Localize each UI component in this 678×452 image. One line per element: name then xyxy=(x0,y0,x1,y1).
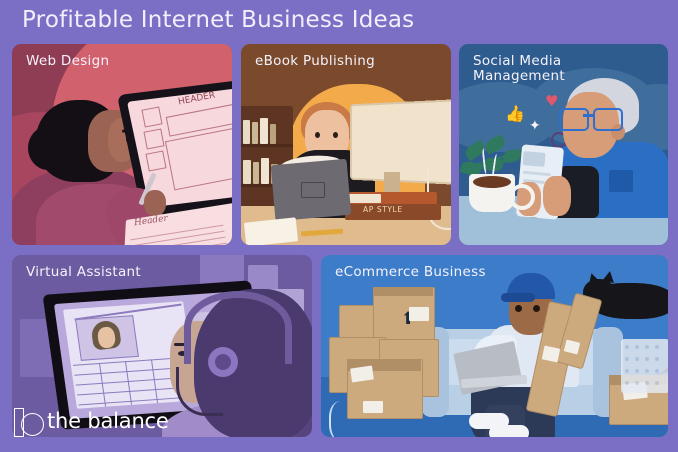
brand-logo[interactable]: the balance xyxy=(14,402,172,440)
infographic-poster: Profitable Internet Business Ideas HEADE… xyxy=(0,0,678,452)
grid-line xyxy=(151,359,158,403)
person-hand-right xyxy=(543,176,571,216)
baseball-cap-brim xyxy=(501,293,535,302)
panel-label-social-media-management: Social Media Management xyxy=(473,54,565,84)
eyeglasses-left-lens xyxy=(559,108,589,131)
wireframe-block-2 xyxy=(143,128,164,149)
shelf-book xyxy=(243,120,250,144)
thumbs-up-icon: 👍 xyxy=(505,104,525,123)
eyeglasses-right-lens xyxy=(593,108,623,131)
panel-ecommerce-business[interactable]: ⬆ xyxy=(321,255,668,437)
spreadsheet-grid xyxy=(73,358,183,409)
wireframe-block-1 xyxy=(141,106,162,127)
logo-circle-shape xyxy=(21,413,44,436)
plant-leaf xyxy=(502,149,521,163)
grid-line xyxy=(99,363,106,407)
person-hair-bun xyxy=(28,126,68,170)
panel-label-ebook-publishing: eBook Publishing xyxy=(255,54,375,69)
person-eye-left xyxy=(315,132,320,138)
panel-social-media-management[interactable]: 👍 ♥ ✦ Social Media M xyxy=(459,44,668,245)
coffee-liquid xyxy=(473,176,511,188)
panel-label-virtual-assistant: Virtual Assistant xyxy=(26,265,141,280)
shipping-label xyxy=(363,401,383,413)
eyeglasses-bridge xyxy=(583,114,595,117)
ebook-publishing-scene: AP STYLE xyxy=(241,44,451,245)
shipping-label xyxy=(409,307,429,321)
book-cover-label xyxy=(301,182,325,198)
notebook xyxy=(244,217,298,245)
grid-line xyxy=(125,361,132,405)
balance-logo-mark xyxy=(14,408,40,435)
book-spine-label: AP STYLE xyxy=(363,205,403,214)
shelf-book xyxy=(243,160,251,184)
headset-band xyxy=(184,291,292,364)
panel-label-ecommerce-business: eCommerce Business xyxy=(335,265,486,280)
panel-label-web-design: Web Design xyxy=(26,54,109,69)
ecommerce-scene: ⬆ xyxy=(321,255,668,437)
brand-name: the balance xyxy=(47,409,169,433)
wireframe-block-3 xyxy=(145,150,166,171)
shirt-pocket xyxy=(609,170,633,192)
shelf-book xyxy=(252,122,258,144)
cat-ear-right xyxy=(602,270,616,283)
shelf-book xyxy=(261,158,269,184)
sparkle-icon: ✦ xyxy=(529,118,541,134)
shelf-book xyxy=(260,118,268,144)
panel-ebook-publishing[interactable]: AP STYLE eBook Publishing xyxy=(241,44,451,245)
shelf-book xyxy=(253,162,259,184)
bubble-wrap xyxy=(621,339,668,393)
shelf-book xyxy=(270,124,276,144)
web-design-scene: HEADER Header xyxy=(12,44,232,245)
person-eye-right xyxy=(533,305,540,312)
panel-web-design[interactable]: HEADER Header Web Design xyxy=(12,44,232,245)
smartphone-image-block xyxy=(522,151,545,167)
heart-icon: ♥ xyxy=(545,92,558,110)
shipping-label xyxy=(542,345,561,362)
packing-string xyxy=(329,401,357,437)
person-hand xyxy=(144,190,166,216)
person-eye-left xyxy=(515,305,522,312)
page-title: Profitable Internet Business Ideas xyxy=(22,7,414,33)
person-shoe-right xyxy=(489,425,529,437)
person-eye-right xyxy=(333,132,338,138)
box-flap xyxy=(373,287,433,296)
bookshelf-divider xyxy=(241,144,293,147)
shipping-box xyxy=(339,305,377,341)
